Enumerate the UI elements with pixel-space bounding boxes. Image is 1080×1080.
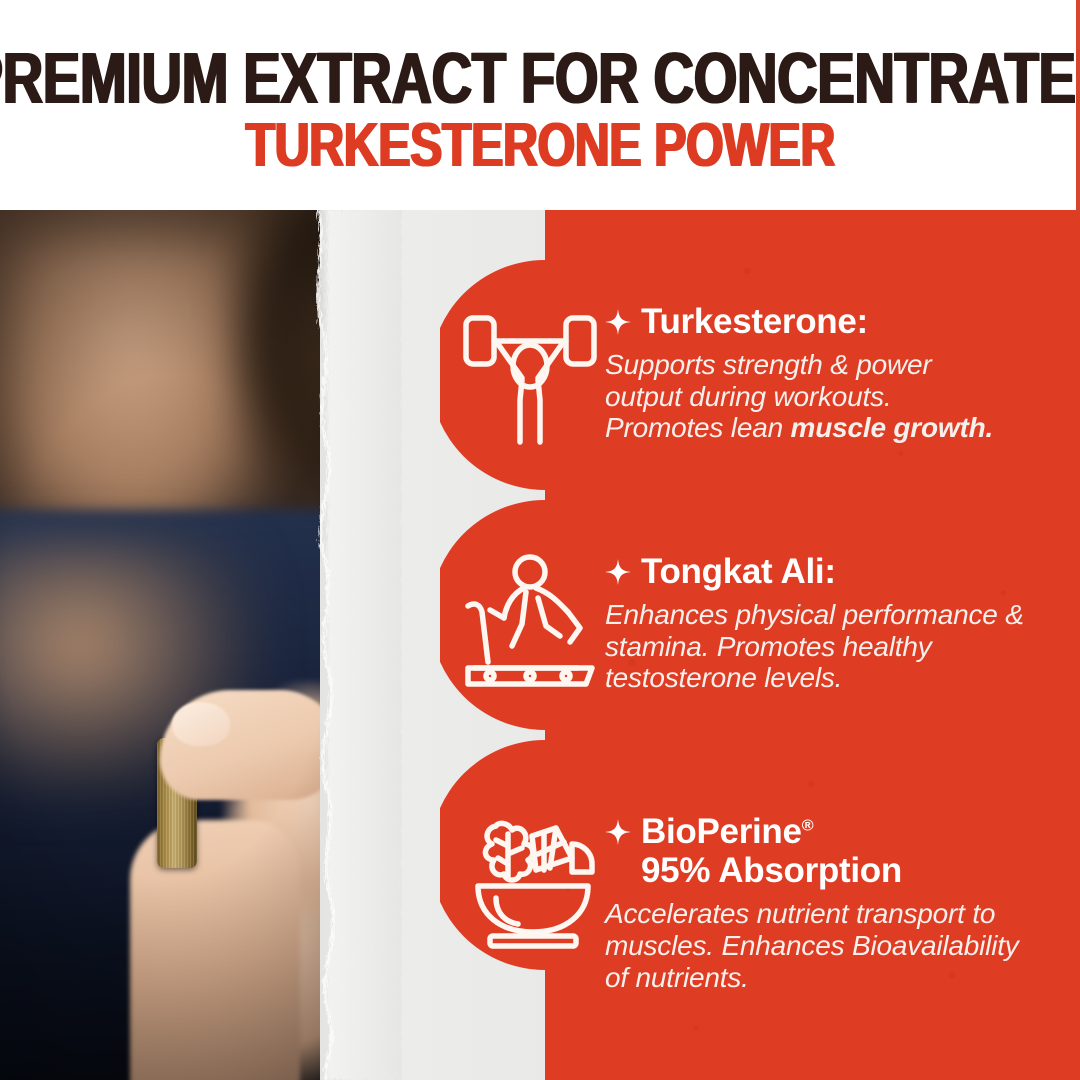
feature-block-turkesterone: Turkesterone: Supports strength & power …	[455, 300, 1070, 450]
torn-paper-edge	[292, 210, 402, 1080]
sparkle-bullet-icon	[605, 819, 631, 845]
feature-3-heading-brand: BioPerine	[641, 812, 802, 851]
feature-3-heading-line2: 95% Absorption	[641, 851, 902, 890]
feature-1-text: Turkesterone: Supports strength & power …	[605, 300, 1005, 444]
headline-group: Premium Extract for Concentrated Turkest…	[0, 0, 1080, 210]
sparkle-bullet-icon	[605, 309, 631, 335]
headline-secondary: Turkesterone Power	[245, 117, 834, 174]
feature-3-heading: BioPerine® 95% Absorption	[605, 812, 1025, 890]
treadmill-runner-icon	[455, 550, 605, 700]
feature-2-text: Tongkat Ali: Enhances physical performan…	[605, 550, 1025, 694]
feature-block-bioperine: BioPerine® 95% Absorption Accelerates nu…	[455, 810, 1070, 993]
feature-2-heading: Tongkat Ali:	[605, 552, 1025, 591]
sparkle-bullet-icon	[605, 559, 631, 585]
infographic-canvas: Turkesterone: Supports strength & power …	[0, 0, 1080, 1080]
weightlifter-icon	[455, 300, 605, 450]
salad-bowl-icon	[455, 810, 605, 960]
feature-1-body: Supports strength & power output during …	[605, 349, 1005, 444]
registered-mark-icon: ®	[802, 816, 814, 834]
feature-1-body-bold: muscle growth.	[791, 412, 994, 443]
feature-2-body: Enhances physical performance & stamina.…	[605, 599, 1025, 694]
header-right-rule	[1076, 0, 1080, 211]
header-banner: Premium Extract for Concentrated Turkest…	[0, 0, 1080, 210]
feature-3-body: Accelerates nutrient transport to muscle…	[605, 898, 1025, 993]
feature-3-text: BioPerine® 95% Absorption Accelerates nu…	[605, 810, 1025, 993]
feature-block-tongkat-ali: Tongkat Ali: Enhances physical performan…	[455, 550, 1070, 700]
feature-1-heading-text: Turkesterone:	[641, 302, 868, 341]
feature-2-heading-text: Tongkat Ali:	[641, 552, 836, 591]
feature-1-heading: Turkesterone:	[605, 302, 1005, 341]
headline-primary: Premium Extract for Concentrated	[0, 46, 1080, 112]
